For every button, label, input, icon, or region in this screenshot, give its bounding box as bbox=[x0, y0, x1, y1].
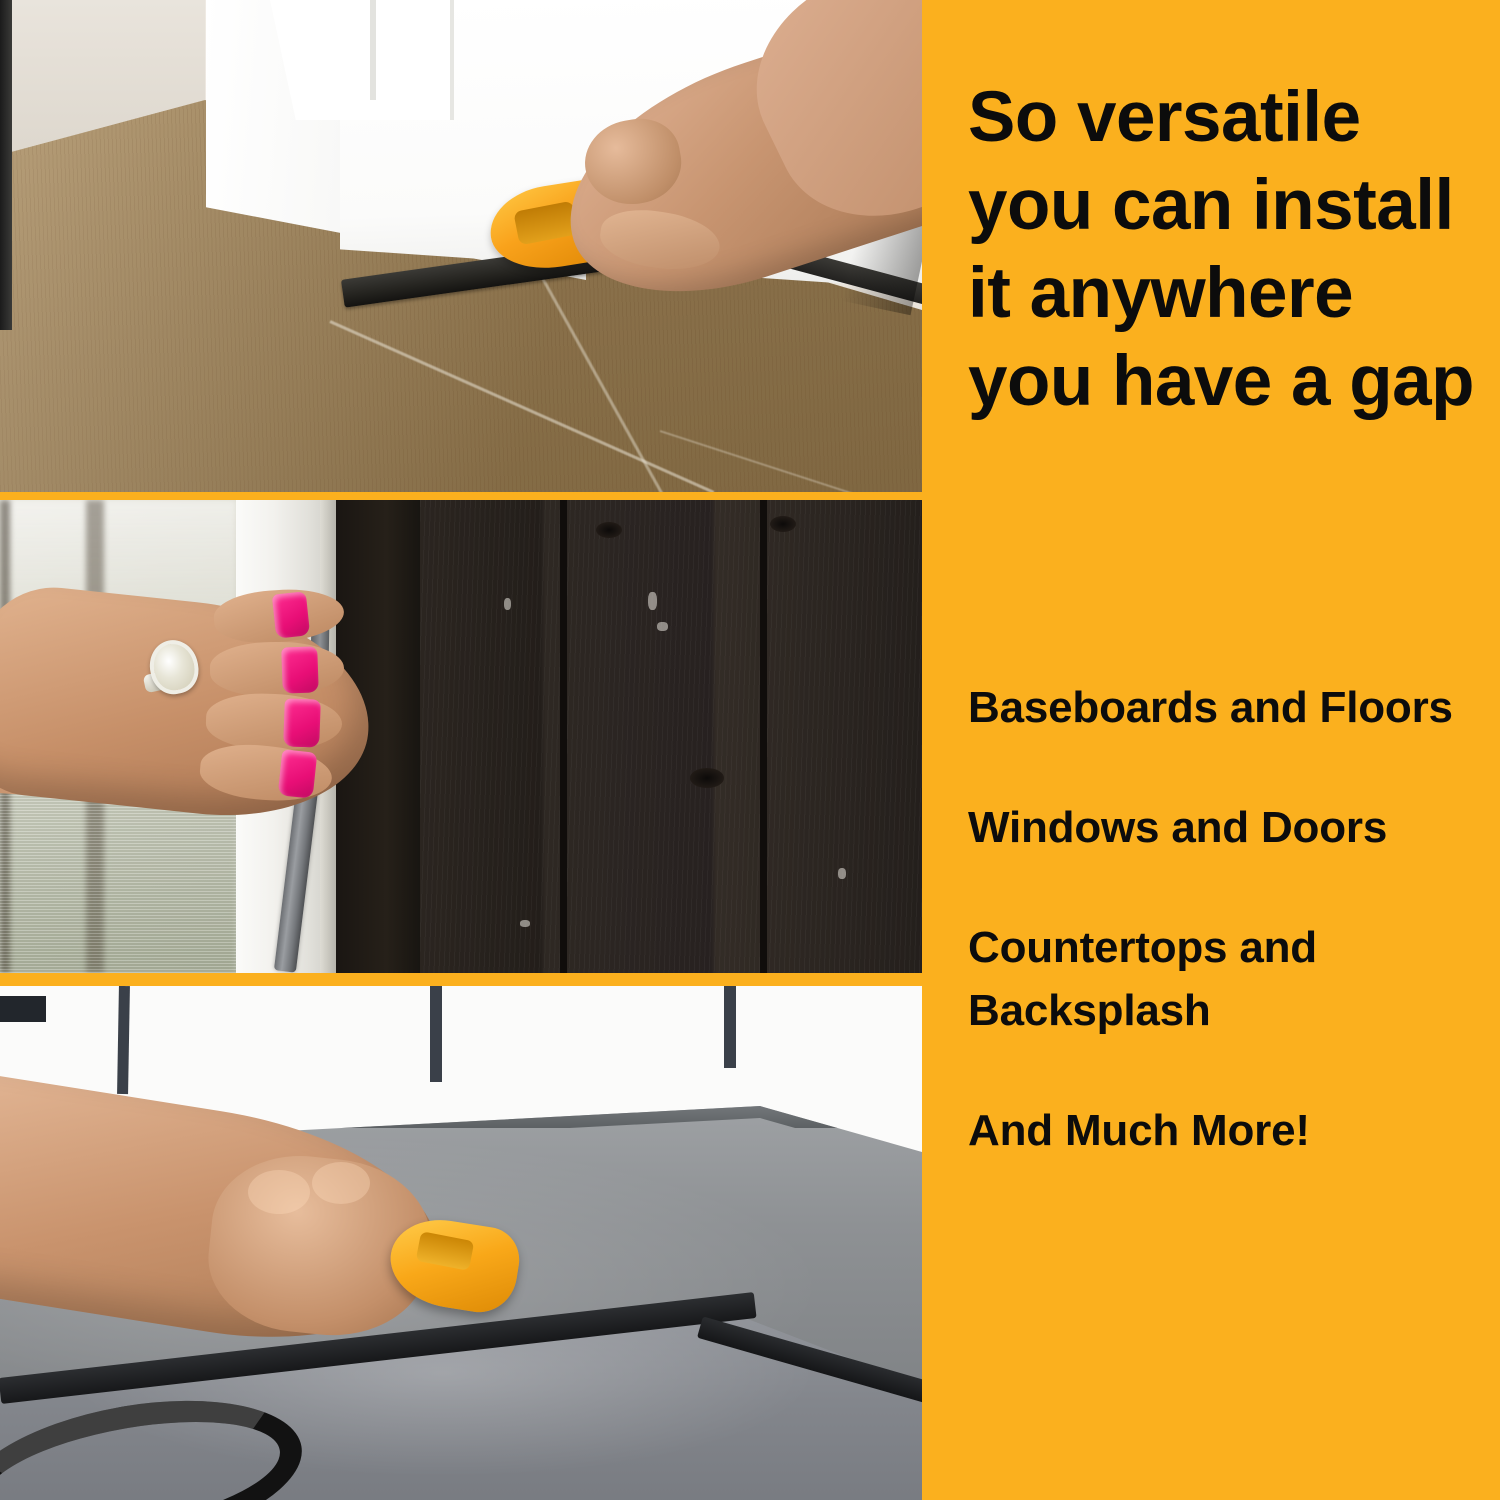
photo-countertops-and-backsplash bbox=[0, 986, 922, 1500]
tile-corner-dark bbox=[0, 996, 46, 1022]
paint-fleck bbox=[838, 868, 846, 879]
product-feature-card: So versatile you can install it anywhere… bbox=[0, 0, 1500, 1500]
list-item: Baseboards and Floors bbox=[968, 676, 1488, 739]
marketing-text-panel: So versatile you can install it anywhere… bbox=[922, 0, 1500, 1500]
page-headline: So versatile you can install it anywhere… bbox=[968, 74, 1488, 426]
door-frame-edge bbox=[0, 0, 12, 330]
wood-knot bbox=[596, 522, 622, 538]
dark-wood-siding bbox=[420, 500, 922, 973]
list-item: Countertops and Backsplash bbox=[968, 916, 1488, 1042]
knuckle bbox=[248, 1170, 310, 1214]
trim-reveal bbox=[370, 0, 376, 100]
countertop-scene bbox=[0, 986, 922, 1500]
window-scene bbox=[0, 500, 922, 973]
baseboard-scene bbox=[0, 0, 922, 492]
tile-grout-line bbox=[724, 986, 736, 1068]
paint-fleck bbox=[657, 622, 668, 631]
list-item: Windows and Doors bbox=[968, 796, 1488, 859]
fingernail-pink bbox=[281, 646, 319, 693]
knuckle bbox=[312, 1162, 370, 1204]
paint-fleck bbox=[520, 920, 530, 927]
wood-plank-seam bbox=[760, 500, 767, 973]
wood-plank-seam bbox=[560, 500, 567, 973]
paint-fleck bbox=[648, 592, 657, 610]
door-trim bbox=[270, 0, 454, 120]
wood-knot bbox=[690, 768, 724, 788]
fingernail-pink bbox=[283, 698, 321, 747]
paint-fleck bbox=[504, 598, 511, 610]
fingernail-pink bbox=[272, 591, 310, 638]
fingernail-pink bbox=[278, 749, 318, 798]
list-item: And Much More! bbox=[968, 1099, 1488, 1162]
tile-grout-line bbox=[430, 986, 442, 1082]
use-case-list: Baseboards and Floors Windows and Doors … bbox=[968, 676, 1488, 1162]
wood-knot bbox=[770, 516, 796, 532]
photo-windows-and-doors bbox=[0, 500, 922, 973]
tile-grout-line bbox=[117, 986, 130, 1094]
photo-baseboards-and-floors bbox=[0, 0, 922, 492]
